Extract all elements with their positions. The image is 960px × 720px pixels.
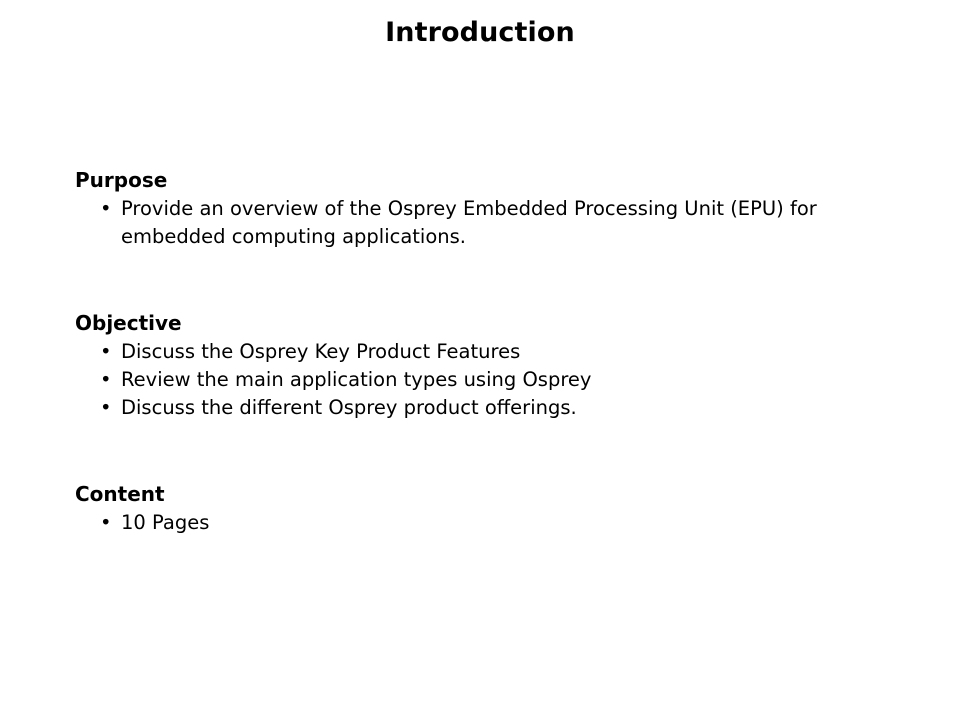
list-item: • Discuss the Osprey Key Product Feature… <box>75 338 935 366</box>
bullet-list-objective: • Discuss the Osprey Key Product Feature… <box>75 338 935 422</box>
bullet-list-content: • 10 Pages <box>75 509 935 537</box>
section-heading-content: Content <box>75 480 935 508</box>
list-item: • Provide an overview of the Osprey Embe… <box>75 195 921 251</box>
section-heading-objective: Objective <box>75 309 935 337</box>
bullet-list-purpose: • Provide an overview of the Osprey Embe… <box>75 195 935 251</box>
list-item-text: Discuss the different Osprey product off… <box>121 394 935 422</box>
bullet-dot-icon: • <box>100 338 112 366</box>
page-title: Introduction <box>0 16 960 50</box>
section-objective: Objective • Discuss the Osprey Key Produ… <box>75 309 935 422</box>
list-item: • 10 Pages <box>75 509 935 537</box>
list-item: • Discuss the different Osprey product o… <box>75 394 935 422</box>
section-purpose: Purpose • Provide an overview of the Osp… <box>75 166 935 251</box>
bullet-dot-icon: • <box>100 509 112 537</box>
bullet-dot-icon: • <box>100 195 112 223</box>
list-item-text: 10 Pages <box>121 509 935 537</box>
slide-canvas: Introduction Purpose • Provide an overvi… <box>0 0 960 720</box>
bullet-dot-icon: • <box>100 366 112 394</box>
section-heading-purpose: Purpose <box>75 166 935 194</box>
bullet-dot-icon: • <box>100 394 112 422</box>
list-item-text: Review the main application types using … <box>121 366 935 394</box>
list-item-text: Provide an overview of the Osprey Embedd… <box>121 195 921 251</box>
list-item: • Review the main application types usin… <box>75 366 935 394</box>
slide-body: Purpose • Provide an overview of the Osp… <box>75 166 935 537</box>
section-content: Content • 10 Pages <box>75 480 935 537</box>
list-item-text: Discuss the Osprey Key Product Features <box>121 338 935 366</box>
